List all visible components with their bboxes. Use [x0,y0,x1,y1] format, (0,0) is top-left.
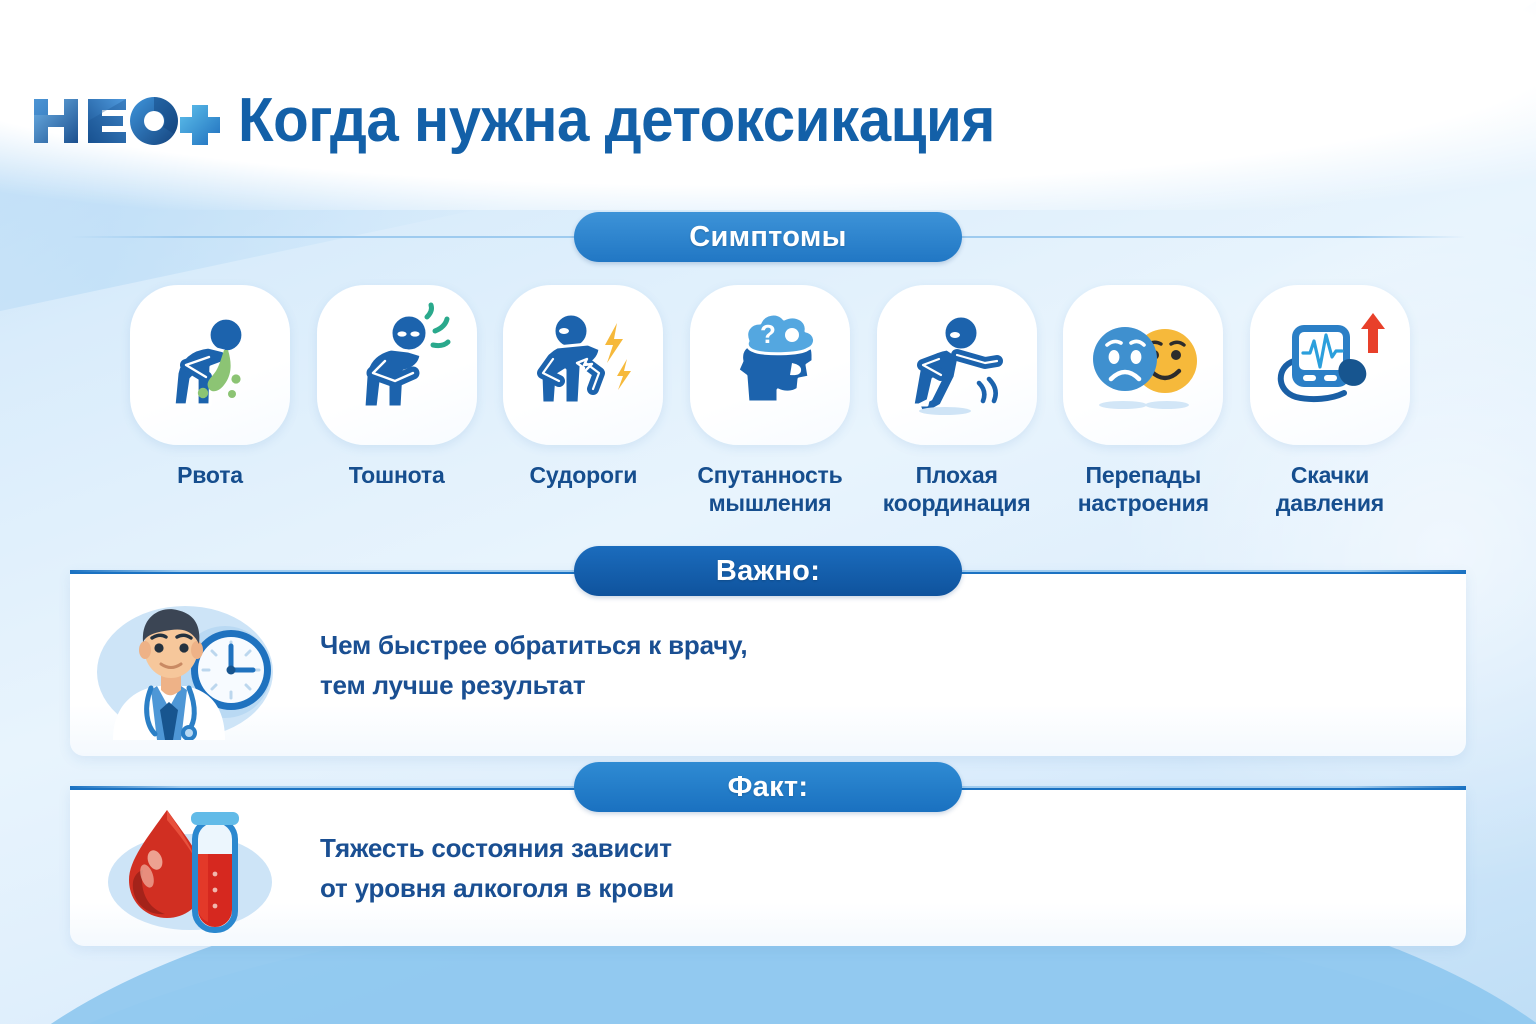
page-title: Когда нужна детоксикация [238,90,995,152]
symptom-label: Судороги [529,461,637,489]
symptom-label-line2: настроения [1078,490,1209,516]
symptom-label-line1: Плохая [916,462,998,488]
symptom-item-coordination[interactable]: Плохая координация [867,285,1047,517]
symptoms-row: Рвота [120,285,1420,517]
important-panel: Чем быстрее обратиться к врачу, тем лучш… [70,570,1466,756]
symptom-label: Перепады настроения [1078,461,1209,517]
symptom-item-vomiting[interactable]: Рвота [120,285,300,489]
symptom-item-confusion[interactable]: ? Спутанность мышления [680,285,860,517]
fact-text-line2: от уровня алкоголя в крови [320,868,674,908]
fact-text: Тяжесть состояния зависит от уровня алко… [320,828,674,909]
symptom-label-line1: Спутанность [697,462,842,488]
badge-fact: Факт: [574,762,962,812]
symptom-label-line2: мышления [709,490,832,516]
person-nausea-icon [333,301,461,429]
important-section-header: Важно: [70,546,1466,596]
svg-text:?: ? [760,319,776,349]
symptom-card [877,285,1037,445]
symptom-item-nausea[interactable]: Тошнота [307,285,487,489]
blood-pressure-monitor-arrow-up-icon [1266,301,1394,429]
symptom-card [130,285,290,445]
fact-text-line1: Тяжесть состояния зависит [320,828,674,868]
symptom-card [503,285,663,445]
doctor-with-clock-illustration [70,590,320,740]
symptom-label: Рвота [177,461,243,489]
symptom-label: Спутанность мышления [697,461,842,517]
symptom-label-line2: давления [1276,490,1384,516]
neo-plus-logo [28,91,224,151]
symptom-item-mood-swings[interactable]: Перепады настроения [1053,285,1233,517]
symptom-card [1063,285,1223,445]
symptom-item-blood-pressure[interactable]: Скачки давления [1240,285,1420,517]
person-vomiting-icon [146,301,274,429]
head-thought-cloud-question-icon: ? [706,301,834,429]
person-stumbling-icon [893,301,1021,429]
blood-drop-test-tube-illustration [70,798,320,938]
symptom-card: ? [690,285,850,445]
symptom-card [317,285,477,445]
symptom-label-line2: координация [883,490,1031,516]
important-text-line1: Чем быстрее обратиться к врачу, [320,625,747,665]
symptom-label: Скачки давления [1276,461,1384,517]
symptom-label: Плохая координация [883,461,1031,517]
badge-symptoms: Симптомы [574,212,962,262]
important-text: Чем быстрее обратиться к врачу, тем лучш… [320,625,747,706]
badge-important: Важно: [574,546,962,596]
symptoms-section-header: Симптомы [70,212,1466,262]
fact-section-header: Факт: [70,762,1466,812]
symptom-label-line1: Скачки [1291,462,1369,488]
symptom-item-cramps[interactable]: Судороги [493,285,673,489]
important-text-line2: тем лучше результат [320,665,747,705]
symptom-card [1250,285,1410,445]
symptom-label-line1: Перепады [1086,462,1202,488]
header: Когда нужна детоксикация [0,76,1536,166]
person-cramps-lightning-icon [519,301,647,429]
symptom-label: Тошнота [349,461,445,489]
infographic-canvas: Когда нужна детоксикация Симптомы [0,0,1536,1024]
sad-happy-faces-icon [1079,301,1207,429]
